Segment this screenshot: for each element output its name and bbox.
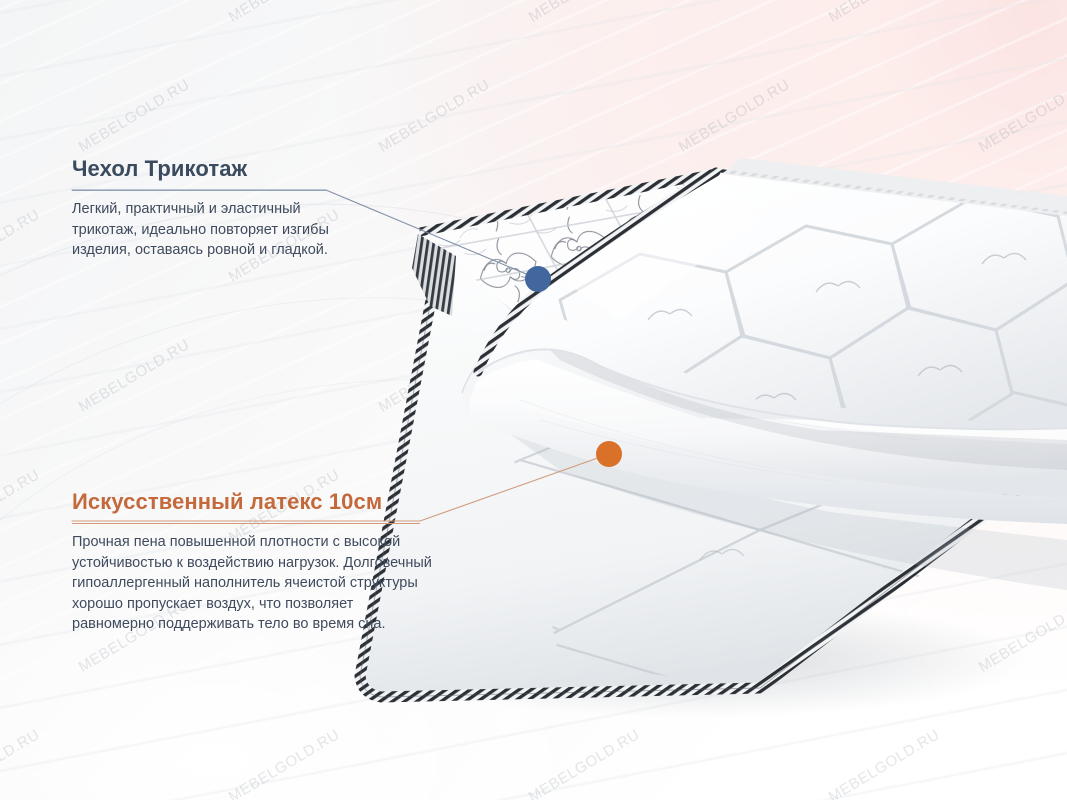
callout-latex-rule (72, 523, 420, 524)
callout-latex-title: Искусственный латекс 10см (72, 489, 432, 514)
infographic-canvas: MEBELGOLD.RUMEBELGOLD.RUMEBELGOLD.RUMEBE… (0, 0, 1067, 800)
callout-cover-title: Чехол Трикотаж (72, 156, 336, 181)
callout-latex: Искусственный латекс 10см Прочная пена п… (72, 489, 432, 635)
callout-cover-body: Легкий, практичный и эластичный трикотаж… (72, 199, 336, 261)
callout-cover: Чехол Трикотаж Легкий, практичный и элас… (72, 156, 336, 261)
callout-cover-rule (72, 190, 326, 191)
callout-latex-body: Прочная пена повышенной плотности с высо… (72, 532, 432, 635)
callout-dot-cover (525, 266, 551, 292)
callout-dot-latex (596, 441, 622, 467)
